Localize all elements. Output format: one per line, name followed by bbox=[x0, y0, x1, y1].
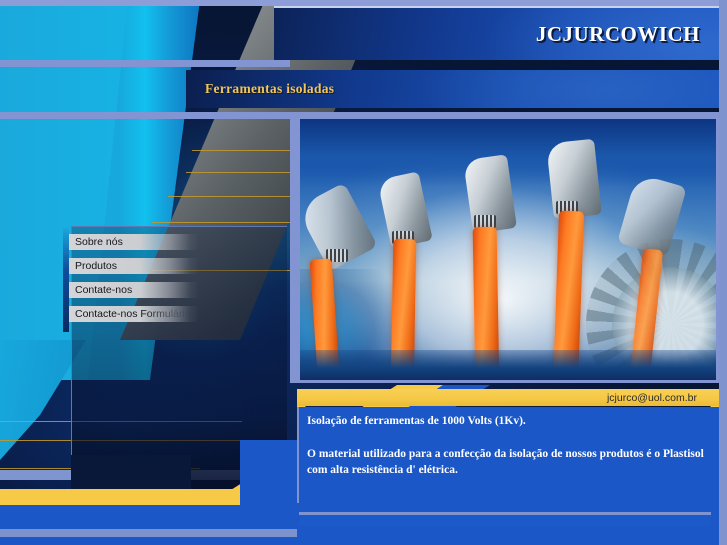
nav-item-contate-nos[interactable]: Contate-nos bbox=[69, 282, 199, 298]
footer-strip bbox=[299, 512, 711, 526]
nav-label: Contate-nos bbox=[69, 284, 132, 296]
contact-email[interactable]: jcjurco@uol.com.br bbox=[607, 392, 719, 404]
nav-item-sobre-nos[interactable]: Sobre nós bbox=[69, 234, 199, 250]
nav-label: Contacte-nos Formulário bbox=[69, 308, 191, 320]
photo-left-vertical-rule bbox=[290, 112, 297, 383]
hero-image-content bbox=[300, 119, 716, 380]
nav-item-contacte-nos-formulario[interactable]: Contacte-nos Formulário bbox=[69, 306, 199, 322]
nav-label: Produtos bbox=[69, 260, 117, 272]
site-logo[interactable]: JCJURCOWICH bbox=[536, 22, 727, 47]
page-title: Ferramentas isoladas bbox=[186, 81, 334, 97]
nav-label: Sobre nós bbox=[69, 236, 123, 248]
decorative-dark-box bbox=[71, 455, 191, 491]
content-paragraph-1: Isolação de ferramentas de 1000 Volts (1… bbox=[307, 413, 713, 430]
email-bar: jcjurco@uol.com.br bbox=[297, 389, 719, 406]
main-content: Isolação de ferramentas de 1000 Volts (1… bbox=[297, 407, 719, 503]
content-paragraph-2: O material utilizado para a confecção da… bbox=[307, 446, 713, 479]
nav-item-produtos[interactable]: Produtos bbox=[69, 258, 199, 274]
header-panel: JCJURCOWICH bbox=[274, 6, 727, 60]
hero-image bbox=[297, 116, 719, 383]
page-root: JCJURCOWICH Ferramentas isoladas Sobre n… bbox=[0, 0, 727, 545]
page-title-band: Ferramentas isoladas bbox=[186, 70, 727, 108]
upper-left-rule bbox=[0, 60, 290, 67]
main-navigation: Sobre nós Produtos Contate-nos Contacte-… bbox=[69, 234, 199, 330]
hero-bottom-shade bbox=[300, 350, 716, 380]
blue-filler-block bbox=[240, 440, 300, 505]
right-edge-vertical-rule bbox=[719, 0, 727, 545]
blue-horizontal-bar bbox=[0, 505, 300, 529]
